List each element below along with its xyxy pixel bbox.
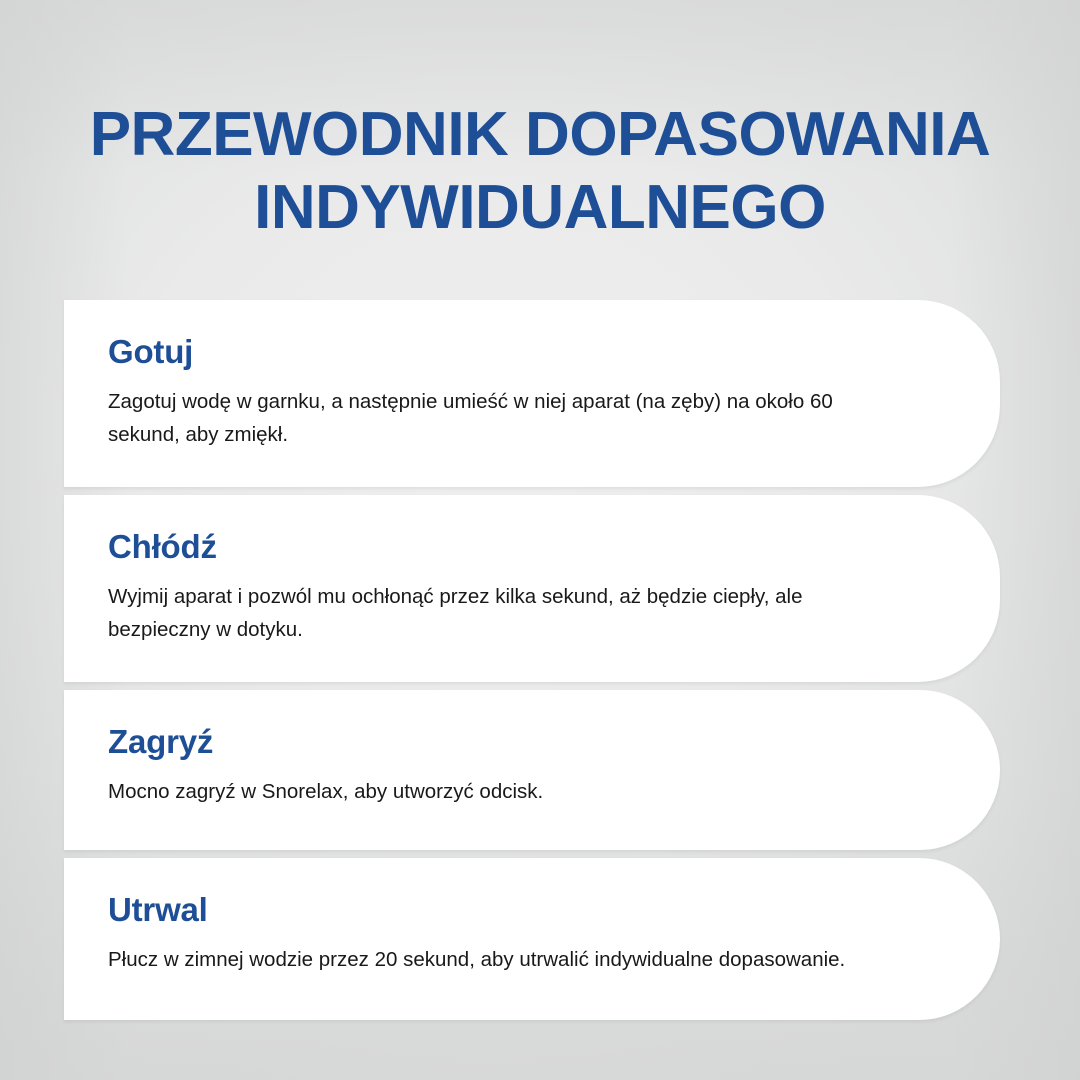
step-description: Płucz w zimnej wodzie przez 20 sekund, a…: [108, 944, 880, 976]
page-title-line-1: PRZEWODNIK DOPASOWANIA: [52, 98, 1028, 171]
step-card-zagryz: Zagryź Mocno zagryź w Snorelax, aby utwo…: [64, 690, 1000, 850]
page-title-line-2: INDYWIDUALNEGO: [52, 171, 1028, 244]
step-description: Mocno zagryź w Snorelax, aby utworzyć od…: [108, 776, 880, 808]
step-card-list: Gotuj Zagotuj wodę w garnku, a następnie…: [64, 300, 1000, 1020]
step-description: Zagotuj wodę w garnku, a następnie umieś…: [108, 386, 880, 451]
step-description: Wyjmij aparat i pozwól mu ochłonąć przez…: [108, 581, 880, 646]
step-card-utrwal: Utrwal Płucz w zimnej wodzie przez 20 se…: [64, 858, 1000, 1020]
page-title: PRZEWODNIK DOPASOWANIA INDYWIDUALNEGO: [52, 98, 1028, 244]
poster-canvas: PRZEWODNIK DOPASOWANIA INDYWIDUALNEGO Go…: [0, 0, 1080, 1080]
step-title: Utrwal: [108, 892, 880, 928]
step-card-gotuj: Gotuj Zagotuj wodę w garnku, a następnie…: [64, 300, 1000, 487]
step-card-chlodz: Chłódź Wyjmij aparat i pozwól mu ochłoną…: [64, 495, 1000, 682]
step-title: Zagryź: [108, 724, 880, 760]
step-title: Gotuj: [108, 334, 880, 370]
step-title: Chłódź: [108, 529, 880, 565]
